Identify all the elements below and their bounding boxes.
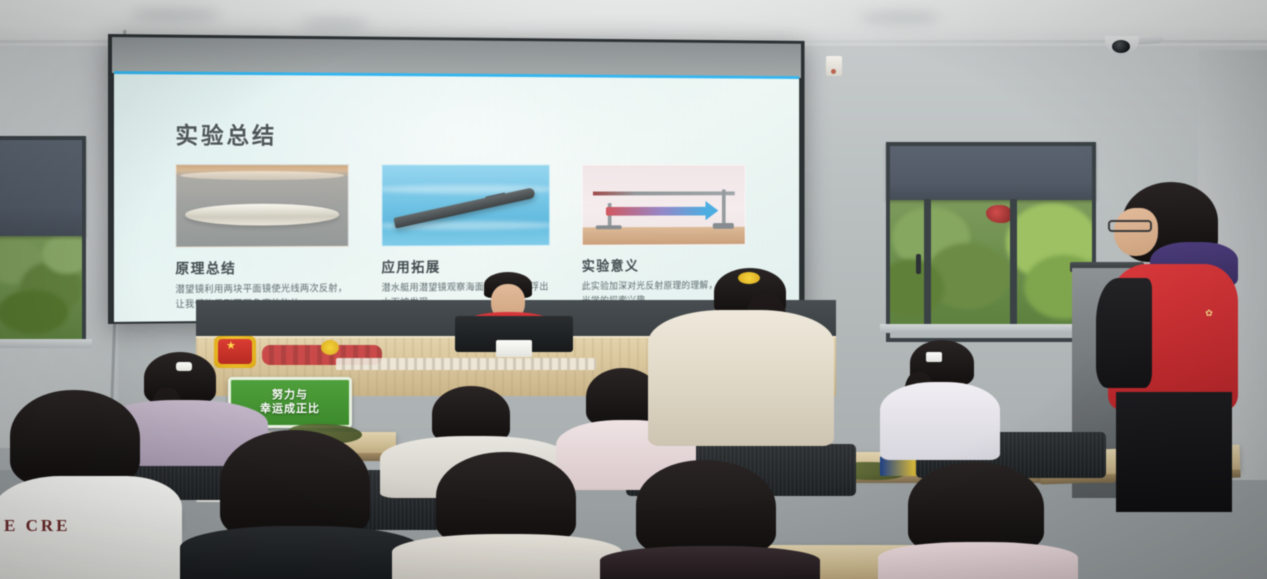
yellow-flower (321, 340, 339, 355)
desk-sign-line2: 幸运成正比 (260, 403, 320, 417)
sleeve (1096, 278, 1152, 388)
optics-experiment-photo-icon (582, 164, 746, 245)
left-window-sill (0, 339, 92, 348)
left-window (0, 136, 86, 346)
student-front-midleft (180, 430, 420, 579)
camera-lens (1112, 40, 1130, 53)
glasses-icon (1108, 220, 1152, 232)
student-front-right (600, 460, 820, 579)
right-window-sill (880, 324, 1102, 333)
card-heading: 原理总结 (175, 258, 348, 279)
student-right-white (880, 340, 1000, 460)
wall-sensor-icon (826, 56, 842, 76)
student-front-mid (392, 452, 622, 579)
ceiling-mark (130, 8, 220, 22)
ceiling-mark (860, 12, 940, 24)
ceiling-mark (300, 18, 370, 30)
mirror-photo-icon (175, 164, 348, 248)
student-cream-jacket (648, 268, 834, 450)
submarine-photo-icon (381, 164, 550, 246)
desk-sign-line1: 努力与 (272, 389, 308, 403)
volunteer-standing-right: ✿ (1096, 182, 1256, 512)
student-front-left: E CRE (0, 390, 190, 579)
student-front-farright (878, 462, 1078, 579)
hair-clip (926, 352, 942, 362)
vest-print: ✿ (1192, 308, 1226, 342)
trousers (1116, 392, 1232, 512)
slide-title: 实验总结 (175, 116, 277, 150)
slide-card: 原理总结 潜望镜利用两块平面镜使光线两次反射，让我们能看到不同角度的物体。 (175, 164, 348, 313)
left-window-frame (0, 136, 86, 346)
paper-sheet (496, 340, 532, 357)
right-window (886, 142, 1096, 342)
hair-clip (176, 362, 192, 371)
shirt-text: E CRE (4, 516, 70, 536)
star-icon: ★ (226, 341, 236, 352)
right-window-frame (886, 142, 1096, 342)
classroom-photo: 实验总结 原理总结 潜望镜利用两块平面镜使光线两次反射，让我们能看到不同角度的物… (0, 0, 1267, 579)
